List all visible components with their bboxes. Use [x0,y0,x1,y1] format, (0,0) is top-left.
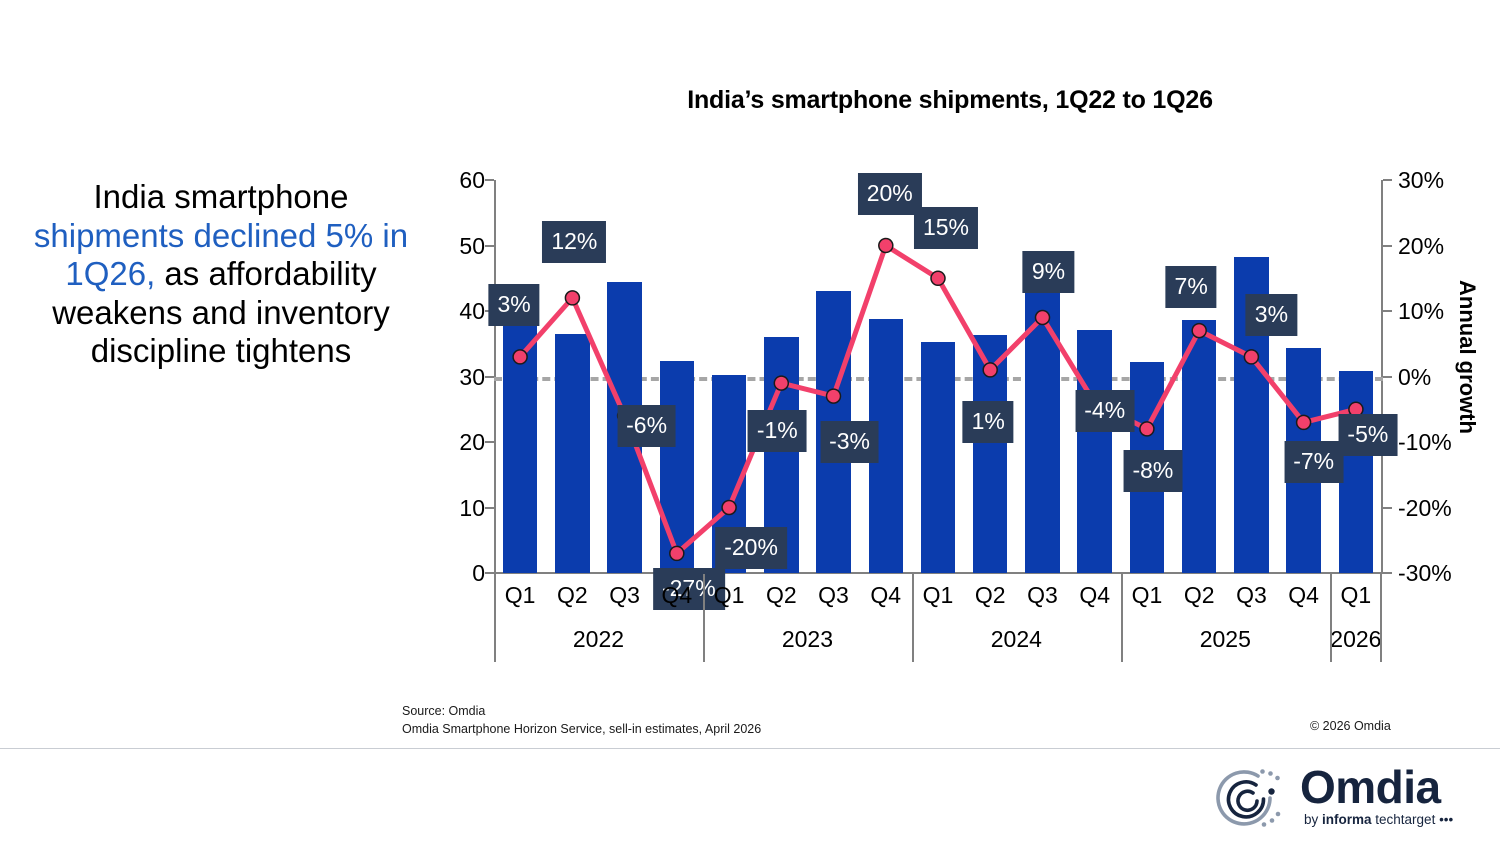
x-axis-year-label: 2023 [782,626,833,653]
growth-label-q2-2025: 7% [1166,266,1217,308]
right-tick-label: 20% [1398,233,1468,260]
x-tick-label: Q4 [661,582,692,609]
omdia-tagline: by informa techtarget ••• [1304,812,1453,827]
x-axis-year-label: 2022 [573,626,624,653]
omdia-spiral-icon [1212,764,1290,832]
x-axis-group-separator [912,574,914,662]
growth-label-q3-2022: -6% [617,405,676,447]
x-tick-label: Q3 [818,582,849,609]
x-tick-label: Q3 [1027,582,1058,609]
growth-label-q1-2026: -5% [1338,414,1397,456]
left-tick-label: 50 [425,233,485,260]
data-labels: 3%12%-6%-27%-20%-1%-3%20%15%1%9%-4%-8%7%… [494,180,1382,573]
x-tick-label: Q4 [870,582,901,609]
omdia-logo: Omdia by informa techtarget ••• [1212,762,1472,834]
right-tick-mark [1383,179,1392,181]
source-note: Source: Omdia Omdia Smartphone Horizon S… [402,702,761,738]
x-tick-label: Q2 [1184,582,1215,609]
growth-label-q2-2022: 12% [542,221,606,263]
right-tick-mark [1383,376,1392,378]
left-tick-mark [485,376,494,378]
x-tick-label: Q1 [505,582,536,609]
x-tick-label: Q1 [714,582,745,609]
left-tick-mark [485,179,494,181]
x-axis-group-separator [1380,574,1382,662]
left-tick-label: 10 [425,495,485,522]
x-tick-label: Q4 [1079,582,1110,609]
page-title: India’s smartphone shipments, 1Q22 to 1Q… [430,86,1470,115]
copyright-note: © 2026 Omdia [1310,719,1391,733]
left-tick-mark [485,572,494,574]
growth-label-q4-2025: -7% [1284,441,1343,483]
left-tick-label: 60 [425,167,485,194]
source-line-1: Source: Omdia [402,702,761,720]
left-tick-label: 30 [425,364,485,391]
growth-label-q4-2024: -4% [1075,390,1134,432]
x-tick-label: Q2 [557,582,588,609]
x-tick-label: Q1 [1132,582,1163,609]
left-tick-label: 40 [425,298,485,325]
growth-label-q1-2025: -8% [1123,450,1182,492]
x-axis-year-label: 2024 [991,626,1042,653]
right-tick-label: 10% [1398,298,1468,325]
x-axis-group-separator [703,574,705,662]
x-axis: Q1Q2Q3Q4Q1Q2Q3Q4Q1Q2Q3Q4Q1Q2Q3Q4Q1202220… [494,574,1383,662]
x-tick-label: Q4 [1288,582,1319,609]
right-tick-mark [1383,245,1392,247]
growth-label-q1-2022: 3% [488,284,539,326]
x-axis-group-separator [1121,574,1123,662]
right-tick-mark [1383,310,1392,312]
right-tick-label: -10% [1398,429,1468,456]
growth-label-q3-2024: 9% [1023,251,1074,293]
growth-label-q2-2023: -1% [748,410,807,452]
left-tick-label: 0 [425,560,485,587]
left-tick-label: 20 [425,429,485,456]
x-tick-label: Q3 [1236,582,1267,609]
right-tick-label: -20% [1398,495,1468,522]
growth-label-q3-2023: -3% [820,421,879,463]
growth-label-q1-2023: -20% [715,527,787,569]
source-line-2: Omdia Smartphone Horizon Service, sell-i… [402,720,761,738]
tagline-bold: informa [1322,812,1372,827]
growth-label-q3-2025: 3% [1246,294,1297,336]
x-tick-label: Q2 [766,582,797,609]
footer-divider [0,748,1500,749]
x-axis-group-separator [1330,574,1332,662]
right-tick-label: 0% [1398,364,1468,391]
growth-label-q4-2023: 20% [858,173,922,215]
x-tick-label: Q1 [1341,582,1372,609]
caption-lead: India smartphone [94,178,349,215]
x-axis-year-label: 2026 [1330,626,1381,653]
tagline-prefix: by [1304,812,1322,827]
right-tick-mark [1383,507,1392,509]
x-tick-label: Q3 [609,582,640,609]
tagline-suffix: techtarget ••• [1372,812,1454,827]
right-tick-label: -30% [1398,560,1468,587]
left-tick-mark [485,507,494,509]
omdia-wordmark: Omdia [1300,764,1441,810]
left-tick-mark [485,441,494,443]
caption-text: India smartphone shipments declined 5% i… [30,178,412,371]
x-tick-label: Q2 [975,582,1006,609]
right-tick-mark [1383,572,1392,574]
growth-label-q1-2024: 15% [914,207,978,249]
left-tick-mark [485,245,494,247]
x-axis-year-label: 2025 [1200,626,1251,653]
x-axis-group-separator [494,574,496,662]
right-tick-label: 30% [1398,167,1468,194]
growth-label-q2-2024: 1% [963,401,1014,443]
x-tick-label: Q1 [923,582,954,609]
